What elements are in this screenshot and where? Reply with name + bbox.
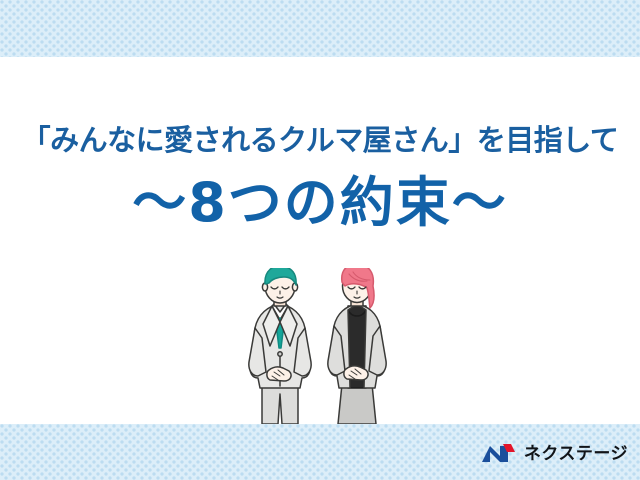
male-trousers	[262, 384, 298, 424]
promotional-banner: 「みんなに愛されるクルマ屋さん」を目指して 〜8つの約束〜	[0, 0, 640, 480]
male-staff-figure	[249, 268, 311, 424]
logo-n-blue	[482, 446, 508, 462]
female-skirt	[338, 384, 376, 424]
nexstage-n-mark	[481, 442, 517, 466]
nexstage-logo: ネクステージ	[481, 440, 628, 468]
headline-title: 〜8つの約束〜	[0, 168, 640, 238]
nexstage-logo-text: ネクステージ	[524, 446, 628, 463]
male-jacket-button	[278, 352, 282, 356]
headline-subtitle: 「みんなに愛されるクルマ屋さん」を目指して	[0, 118, 640, 162]
headline-block: 「みんなに愛されるクルマ屋さん」を目指して 〜8つの約束〜	[0, 118, 640, 238]
female-staff-figure	[328, 268, 386, 424]
staff-figures-svg	[236, 268, 412, 428]
two-staff-bowing-illustration	[236, 268, 412, 428]
top-dotted-band	[0, 0, 640, 57]
